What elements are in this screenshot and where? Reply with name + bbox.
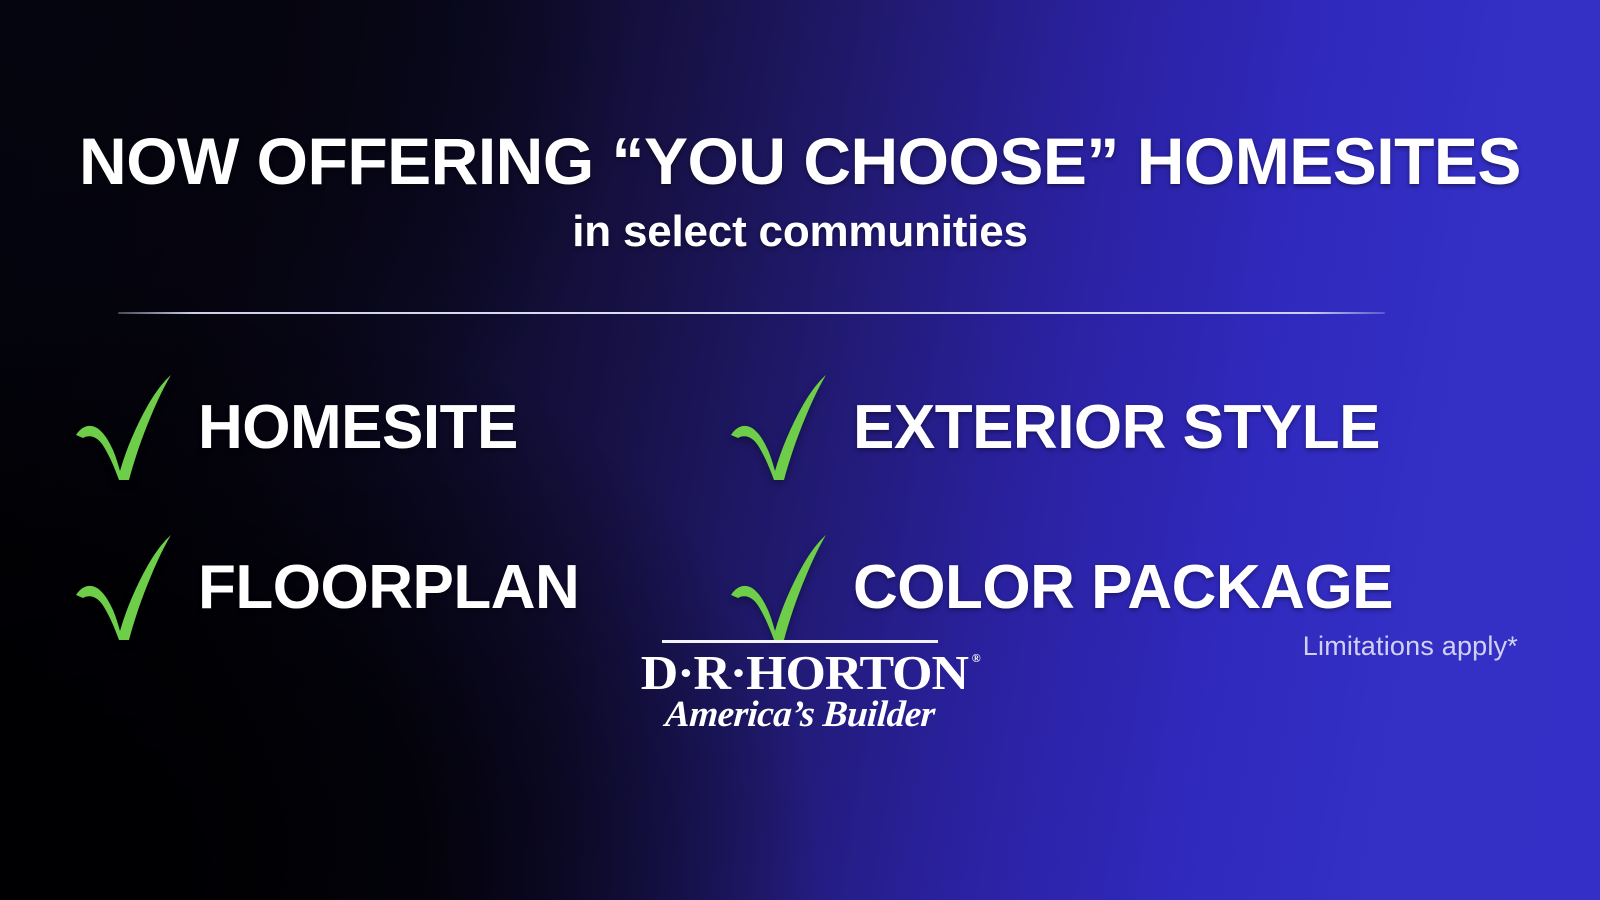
logo-rule bbox=[662, 640, 938, 643]
feature-label: HOMESITE bbox=[198, 397, 518, 459]
disclaimer-text: Limitations apply* bbox=[1303, 633, 1518, 660]
feature-label: FLOORPLAN bbox=[198, 557, 579, 619]
feature-label: COLOR PACKAGE bbox=[853, 557, 1393, 619]
page-title: NOW OFFERING “YOU CHOOSE” HOMESITES bbox=[0, 128, 1600, 194]
feature-item-exterior-style: EXTERIOR STYLE bbox=[727, 372, 1528, 484]
green-check-icon bbox=[72, 532, 176, 644]
promo-banner: NOW OFFERING “YOU CHOOSE” HOMESITES in s… bbox=[0, 0, 1600, 900]
feature-item-floorplan: FLOORPLAN bbox=[72, 532, 727, 644]
green-check-icon bbox=[727, 372, 831, 484]
headline-block: NOW OFFERING “YOU CHOOSE” HOMESITES in s… bbox=[0, 128, 1600, 254]
feature-label: EXTERIOR STYLE bbox=[853, 397, 1380, 459]
subheadline: in select communities bbox=[0, 210, 1600, 254]
logo-wordmark: D·R·HORTON ® bbox=[641, 648, 968, 698]
horizontal-divider bbox=[118, 312, 1385, 314]
green-check-icon bbox=[727, 532, 831, 644]
logo-tagline: America’s Builder bbox=[649, 696, 952, 735]
registered-trademark-icon: ® bbox=[971, 652, 980, 664]
green-check-icon bbox=[72, 372, 176, 484]
feature-item-color-package: COLOR PACKAGE bbox=[727, 532, 1528, 644]
feature-item-homesite: HOMESITE bbox=[72, 372, 727, 484]
logo-wordmark-text: D·R·HORTON bbox=[641, 645, 968, 700]
dr-horton-logo: D·R·HORTON ® America’s Builder bbox=[650, 640, 950, 735]
feature-grid: HOMESITE EXTERIOR STYLE FLOORPLAN COLOR … bbox=[72, 348, 1528, 668]
